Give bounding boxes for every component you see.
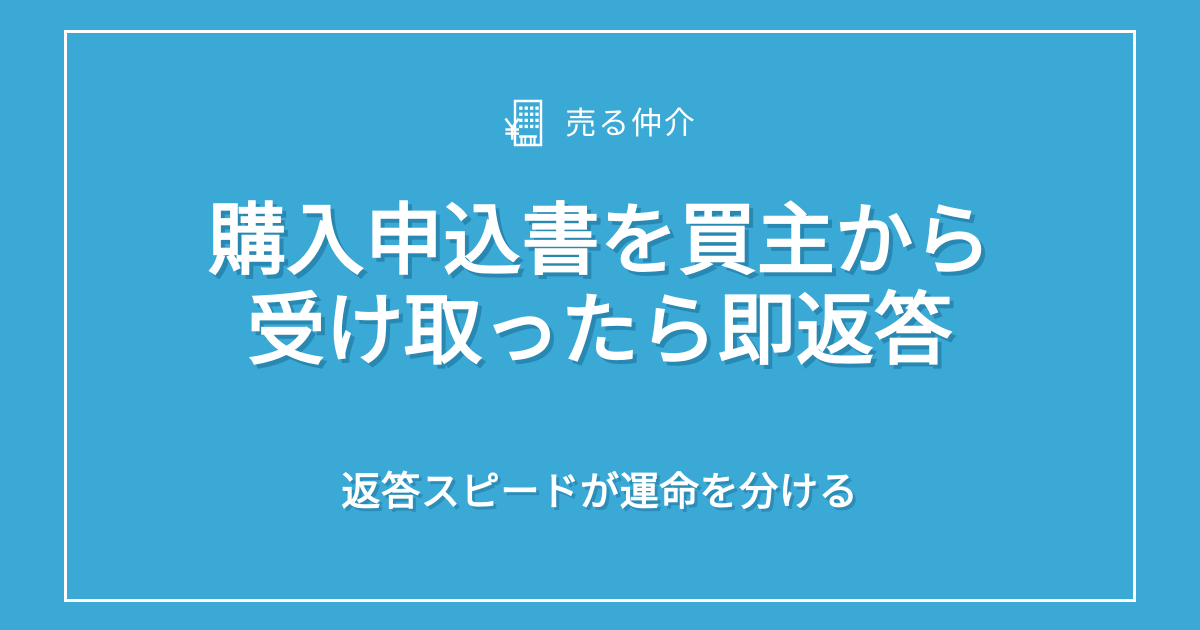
page-title: 購入申込書を買主から 受け取ったら即返答 bbox=[208, 195, 992, 376]
building-yen-icon bbox=[503, 98, 549, 148]
brand-name: 売る仲介 bbox=[565, 108, 696, 139]
card-content: 売る仲介 購入申込書を買主から 受け取ったら即返答 返答スピードが運命を分ける bbox=[0, 0, 1200, 630]
brand-lockup: 売る仲介 bbox=[503, 97, 696, 149]
ogp-card: 売る仲介 購入申込書を買主から 受け取ったら即返答 返答スピードが運命を分ける bbox=[0, 0, 1200, 630]
page-subtitle: 返答スピードが運命を分ける bbox=[341, 470, 858, 517]
page-title-line-2: 受け取ったら即返答 bbox=[208, 285, 992, 375]
page-title-line-1: 購入申込書を買主から bbox=[208, 195, 992, 285]
